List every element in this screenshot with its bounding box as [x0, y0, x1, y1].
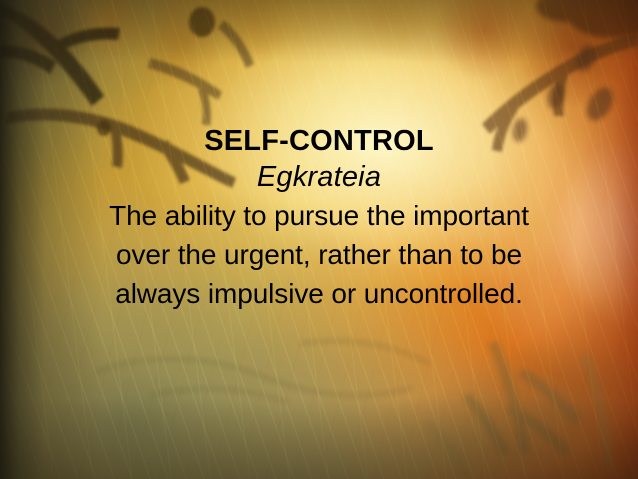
definition-line-2: over the urgent, rather than to be — [0, 235, 638, 274]
slide-title: SELF-CONTROL — [0, 124, 638, 158]
greek-term: Egkrateia — [0, 158, 638, 196]
slide-canvas: SELF-CONTROL Egkrateia The ability to pu… — [0, 0, 638, 479]
definition-line-1: The ability to pursue the important — [0, 196, 638, 235]
definition-line-3: always impulsive or uncontrolled. — [0, 274, 638, 313]
slide-text-block: SELF-CONTROL Egkrateia The ability to pu… — [0, 124, 638, 313]
